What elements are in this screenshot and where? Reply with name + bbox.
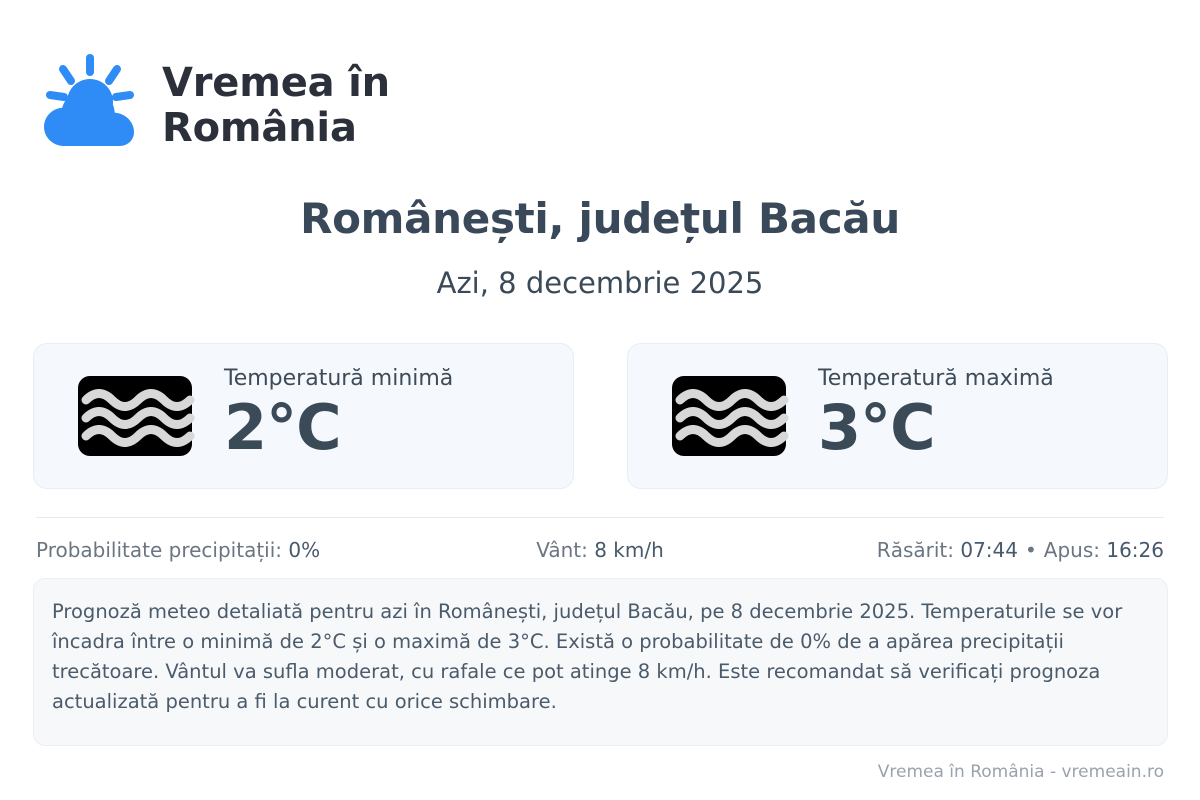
stat-wind-value: 8 km/h [594,538,664,562]
stat-sunrise-label: Răsărit: [877,538,961,562]
card-label: Temperatură maximă [818,366,1054,392]
stat-wind-label: Vânt: [536,538,594,562]
stat-sunrise-value: 07:44 [960,538,1018,562]
sun-cloud-icon [36,52,144,160]
page-subtitle: Azi, 8 decembrie 2025 [0,266,1200,300]
card-body: Temperatură maximă 3°C [818,366,1054,461]
stat-wind: Vânt: 8 km/h [412,538,788,562]
fog-icon [664,376,794,456]
stat-precipitation-value: 0% [288,538,320,562]
card-temperature-max: Temperatură maximă 3°C [627,343,1168,489]
card-value: 3°C [818,395,1054,462]
brand-name: Vremea în România [162,61,390,151]
stats-divider [36,517,1164,518]
stats-row: Probabilitate precipitații: 0% Vânt: 8 k… [36,538,1164,562]
stat-sunset-label: Apus: [1044,538,1107,562]
stat-sunset-value: 16:26 [1106,538,1164,562]
footer-credit: Vremea în România - vremeain.ro [878,762,1164,782]
page-title: Românești, județul Bacău [0,194,1200,243]
stat-separator: • [1018,538,1044,562]
stat-sun: Răsărit: 07:44•Apus: 16:26 [788,538,1164,562]
forecast-description-text: Prognoză meteo detaliată pentru azi în R… [52,597,1141,717]
stat-precipitation: Probabilitate precipitații: 0% [36,538,412,562]
card-temperature-min: Temperatură minimă 2°C [33,343,574,489]
stat-precipitation-label: Probabilitate precipitații: [36,538,288,562]
fog-icon [70,376,200,456]
card-body: Temperatură minimă 2°C [224,366,453,461]
card-value: 2°C [224,395,453,462]
temperature-cards: Temperatură minimă 2°C Temperatură maxim… [33,343,1168,489]
forecast-description-panel: Prognoză meteo detaliată pentru azi în R… [33,578,1168,746]
card-label: Temperatură minimă [224,366,453,392]
weather-page: Vremea în România Românești, județul Bac… [0,0,1200,800]
brand-logo[interactable]: Vremea în România [36,52,390,160]
